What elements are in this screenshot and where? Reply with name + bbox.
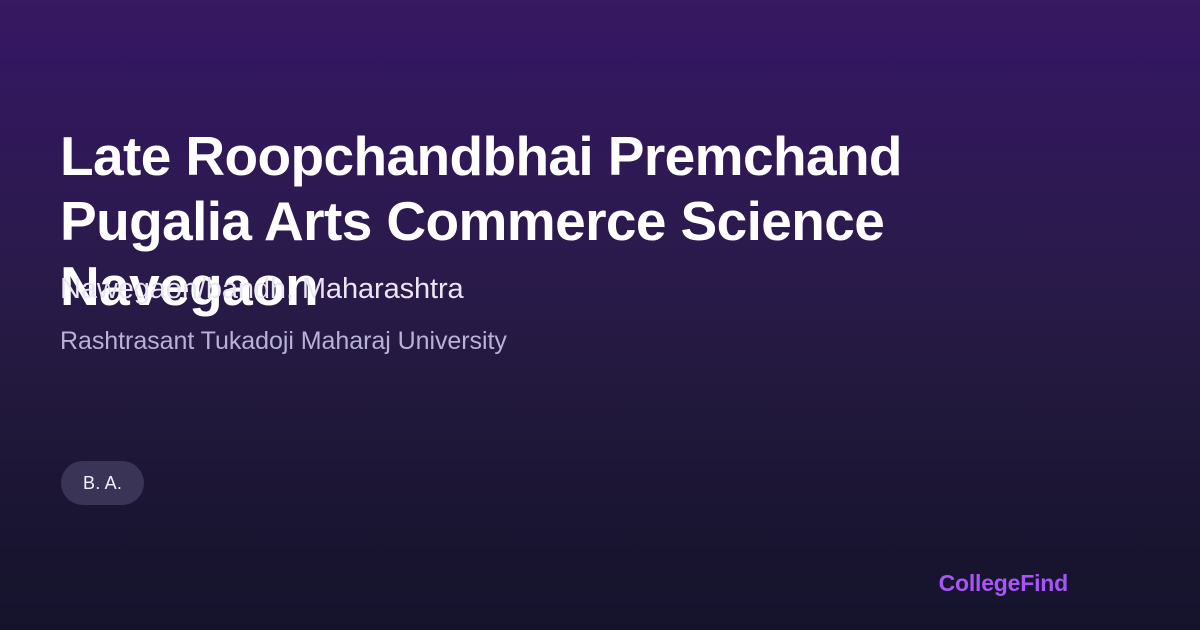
brand-logo-collegefind: CollegeFind (939, 568, 1068, 598)
card-content: Late Roopchandbhai Premchand Pugalia Art… (60, 0, 1140, 630)
og-share-card: Late Roopchandbhai Premchand Pugalia Art… (0, 0, 1200, 630)
degree-badge-row: B. A. (61, 461, 144, 505)
college-location: Nawegaon/bandh, Maharashtra (60, 271, 464, 307)
affiliated-university: Rashtrasant Tukadoji Maharaj University (60, 325, 507, 357)
degree-badge: B. A. (61, 461, 144, 505)
